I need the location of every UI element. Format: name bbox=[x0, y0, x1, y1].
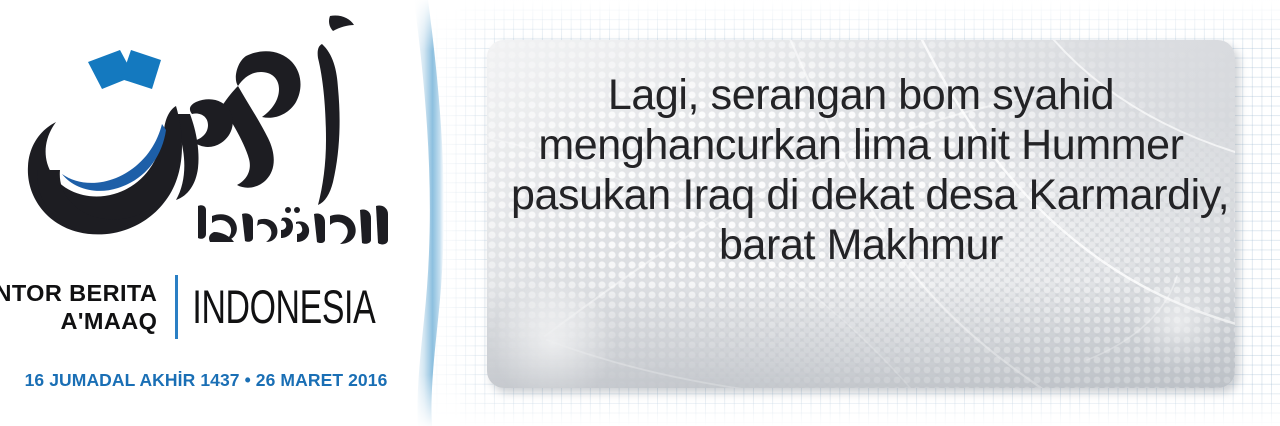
logo-letter-alif bbox=[318, 15, 354, 205]
branding-panel: KANTOR BERITA A'MAAQ INDONESIA 16 JUMADA… bbox=[0, 0, 440, 426]
headline-card: Lagi, serangan bom syahid menghancurkan … bbox=[487, 40, 1235, 388]
agency-name: KANTOR BERITA A'MAAQ bbox=[0, 279, 175, 335]
amaaq-logo bbox=[0, 10, 412, 255]
edition-name: INDONESIA bbox=[178, 282, 375, 332]
wordmark: KANTOR BERITA A'MAAQ INDONESIA bbox=[0, 272, 412, 342]
amaaq-logo-artwork bbox=[0, 10, 412, 255]
publication-date: 16 JUMADAL AKHİR 1437 • 26 MARET 2016 bbox=[0, 370, 412, 391]
headline-text: Lagi, serangan bom syahid menghancurkan … bbox=[511, 70, 1211, 270]
news-banner: KANTOR BERITA A'MAAQ INDONESIA 16 JUMADA… bbox=[0, 0, 1280, 426]
headline-line-3: pasukan Iraq di dekat desa Karmardiy, bbox=[511, 170, 1211, 220]
logo-letter-ain bbox=[222, 51, 301, 188]
agency-name-line1: KANTOR BERITA bbox=[0, 279, 157, 307]
logo-letter-qaf bbox=[28, 106, 182, 234]
agency-name-line2: A'MAAQ bbox=[0, 307, 157, 335]
headline-line-1: Lagi, serangan bom syahid bbox=[511, 70, 1211, 120]
headline-line-4: barat Makhmur bbox=[511, 220, 1211, 270]
logo-accent-dots bbox=[88, 50, 161, 89]
headline-line-2: menghancurkan lima unit Hummer bbox=[511, 120, 1211, 170]
logo-arabic-subtitle bbox=[198, 205, 388, 244]
